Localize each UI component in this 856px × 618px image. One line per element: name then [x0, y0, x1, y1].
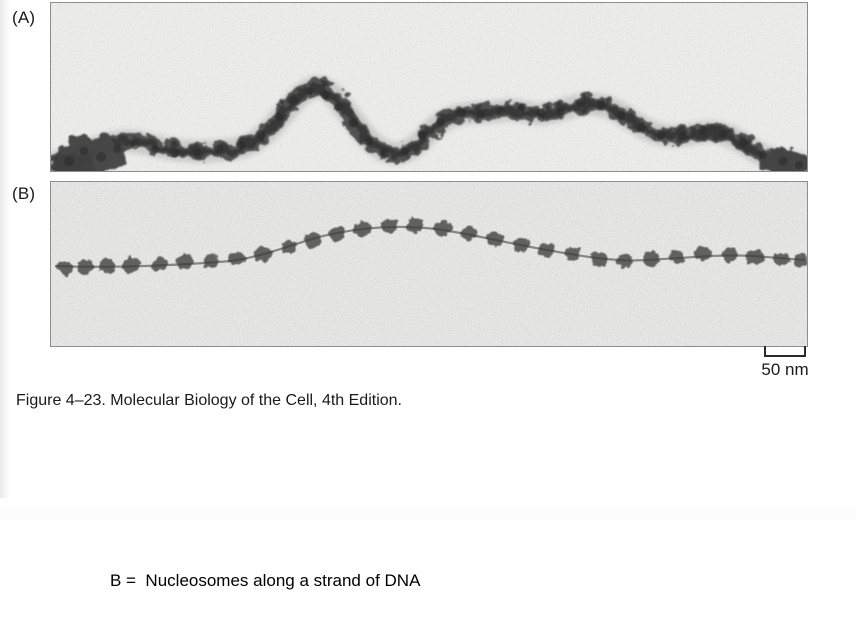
scale-bar-label: 50 nm: [730, 360, 840, 380]
figure-caption: Figure 4–23. Molecular Biology of the Ce…: [16, 392, 402, 410]
panel-b-micrograph: [50, 181, 808, 347]
scale-bar-bracket-icon: [764, 346, 806, 357]
panel-a-micrograph: [50, 2, 808, 172]
panel-a-svg: [51, 3, 807, 171]
panel-b-label: (B): [12, 184, 35, 204]
bottom-fade: [0, 498, 856, 520]
scale-bar: 50 nm: [730, 346, 840, 380]
panel-b-svg: [51, 182, 807, 346]
panel-a-label: (A): [12, 8, 35, 28]
left-edge-strip: [0, 0, 9, 520]
legend-line-b: B = Nucleosomes along a strand of DNA: [110, 568, 450, 593]
legend-block: A = 30nm fiber of an interphase chromoso…: [110, 443, 450, 618]
